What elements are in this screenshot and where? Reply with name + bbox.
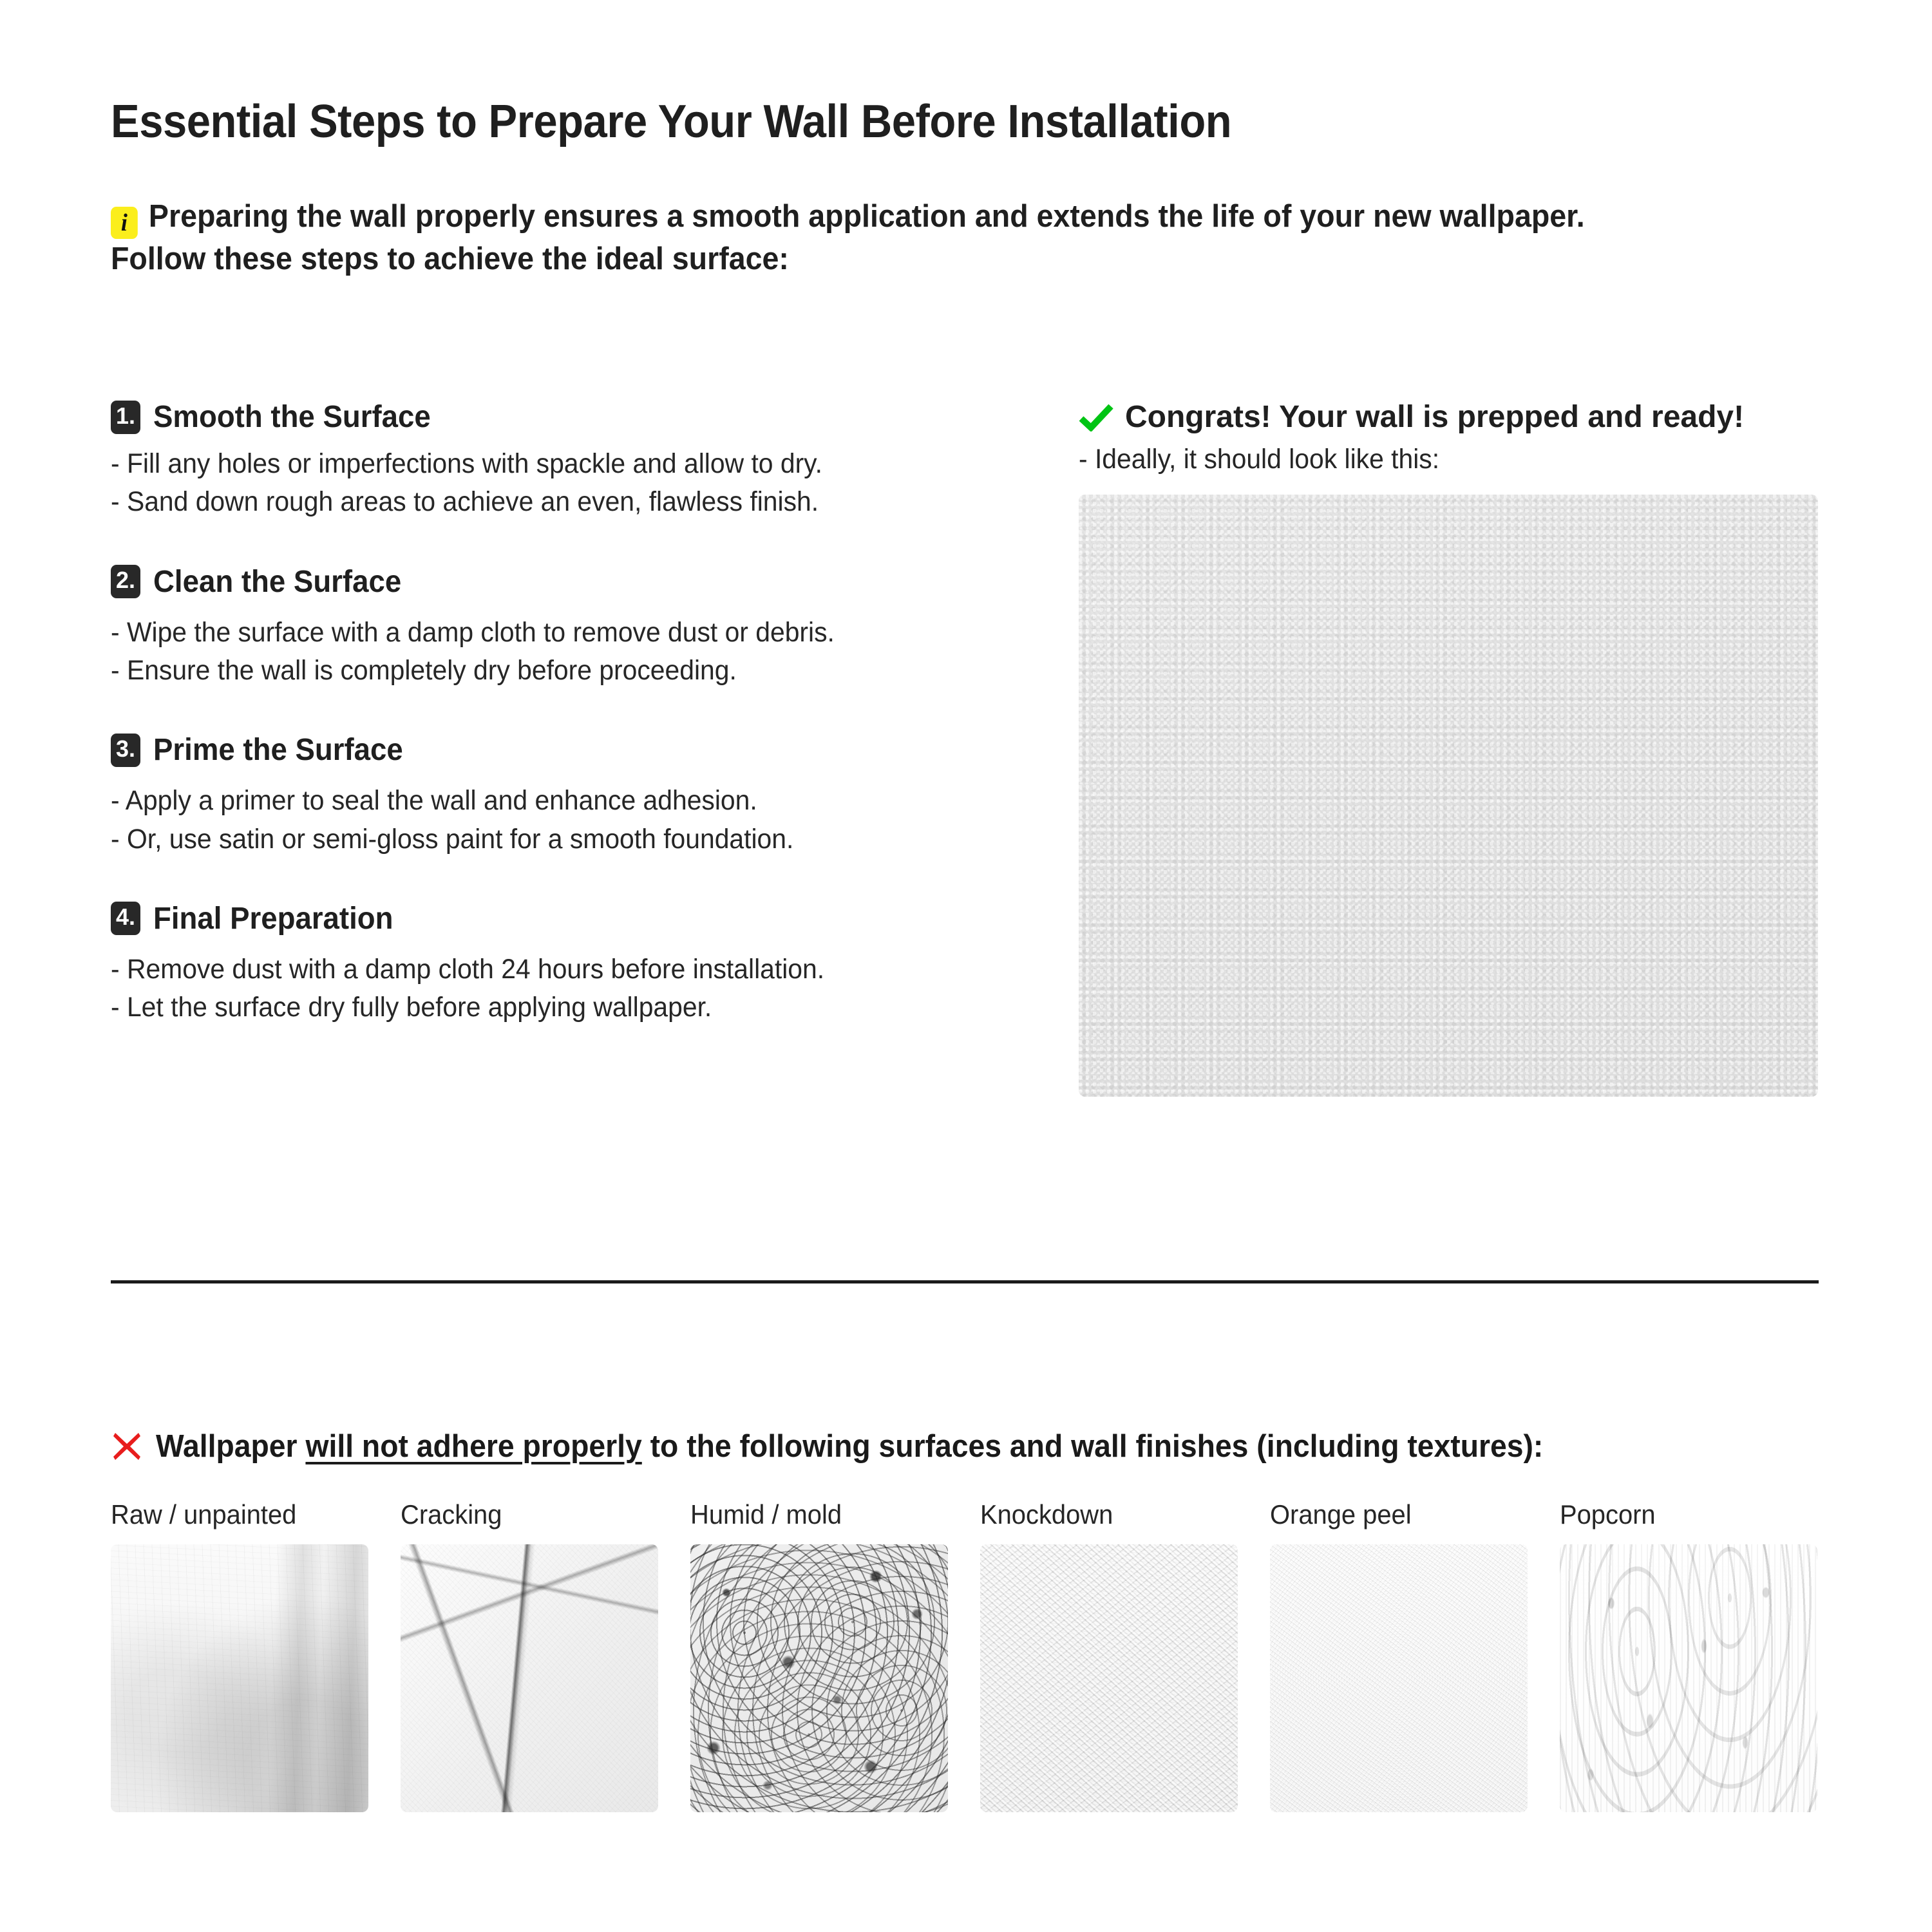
texture-swatch-cracking (401, 1544, 658, 1812)
step-header-2: 2. Clean the Surface (111, 564, 1025, 600)
texture-swatch-humid-mold (690, 1544, 948, 1812)
texture-label: Humid / mold (690, 1499, 935, 1530)
texture-label: Knockdown (980, 1499, 1225, 1530)
step-item-3: 3. Prime the Surface - Apply a primer to… (111, 732, 1025, 858)
warning-text-before: Wallpaper (156, 1429, 305, 1464)
texture-item-humid-mold: Humid / mold (690, 1499, 948, 1812)
steps-list: 1. Smooth the Surface - Fill any holes o… (111, 399, 1025, 1027)
texture-swatch-popcorn (1560, 1544, 1817, 1812)
texture-item-orange-peel: Orange peel (1270, 1499, 1528, 1812)
texture-item-knockdown: Knockdown (980, 1499, 1238, 1812)
step-bullets-2: - Wipe the surface with a damp cloth to … (111, 614, 980, 690)
step-bullets-3: - Apply a primer to seal the wall and en… (111, 782, 980, 858)
intro-paragraph: iPreparing the wall properly ensures a s… (111, 196, 1745, 279)
page-title: Essential Steps to Prepare Your Wall Bef… (111, 95, 1231, 148)
step-bullet: - Ensure the wall is completely dry befo… (111, 652, 980, 690)
warning-text: Wallpaper will not adhere properly to th… (156, 1428, 1543, 1464)
step-item-1: 1. Smooth the Surface - Fill any holes o… (111, 399, 1025, 522)
step-bullets-1: - Fill any holes or imperfections with s… (111, 445, 980, 522)
texture-label: Popcorn (1560, 1499, 1804, 1530)
texture-swatch-raw-unpainted (111, 1544, 368, 1812)
ideal-wall-preview-image (1079, 495, 1818, 1097)
texture-label: Orange peel (1270, 1499, 1515, 1530)
step-bullet: - Or, use satin or semi-gloss paint for … (111, 820, 980, 858)
wall-prep-document: Essential Steps to Prepare Your Wall Bef… (0, 0, 1932, 1932)
intro-line-1: Preparing the wall properly ensures a sm… (149, 199, 1585, 234)
ideal-heading-text: Congrats! Your wall is prepped and ready… (1125, 399, 1744, 435)
step-number-badge-2: 2. (111, 565, 140, 598)
x-icon (111, 1430, 143, 1463)
bad-surface-gallery: Raw / unpainted Cracking Humid / mold Kn… (111, 1499, 1824, 1812)
step-bullet: - Remove dust with a damp cloth 24 hours… (111, 951, 980, 989)
step-title-2: Clean the Surface (153, 564, 401, 600)
texture-item-cracking: Cracking (401, 1499, 658, 1812)
texture-label: Cracking (401, 1499, 645, 1530)
step-bullet: - Sand down rough areas to achieve an ev… (111, 483, 980, 521)
step-bullets-4: - Remove dust with a damp cloth 24 hours… (111, 951, 980, 1027)
step-bullet: - Fill any holes or imperfections with s… (111, 445, 980, 483)
step-bullet: - Apply a primer to seal the wall and en… (111, 782, 980, 820)
check-icon (1079, 403, 1113, 431)
step-item-2: 2. Clean the Surface - Wipe the surface … (111, 564, 1025, 690)
intro-line-2: Follow these steps to achieve the ideal … (111, 241, 789, 276)
step-header-3: 3. Prime the Surface (111, 732, 1025, 768)
texture-label: Raw / unpainted (111, 1499, 355, 1530)
warning-row: Wallpaper will not adhere properly to th… (111, 1428, 1624, 1464)
section-divider (111, 1280, 1819, 1283)
step-bullet: - Let the surface dry fully before apply… (111, 989, 980, 1027)
texture-swatch-orange-peel (1270, 1544, 1528, 1812)
texture-swatch-knockdown (980, 1544, 1238, 1812)
step-title-3: Prime the Surface (153, 732, 403, 768)
ideal-heading-row: Congrats! Your wall is prepped and ready… (1079, 399, 1819, 435)
step-number-badge-3: 3. (111, 734, 140, 767)
texture-item-popcorn: Popcorn (1560, 1499, 1817, 1812)
step-title-1: Smooth the Surface (153, 399, 431, 435)
step-item-4: 4. Final Preparation - Remove dust with … (111, 901, 1025, 1027)
step-title-4: Final Preparation (153, 901, 393, 936)
texture-item-raw: Raw / unpainted (111, 1499, 368, 1812)
step-number-badge-4: 4. (111, 902, 140, 935)
info-icon: i (111, 207, 138, 239)
warning-text-emphasis: will not adhere properly (305, 1429, 641, 1464)
ideal-result-section: Congrats! Your wall is prepped and ready… (1079, 399, 1819, 1097)
ideal-subtext: - Ideally, it should look like this: (1079, 444, 1783, 475)
step-bullet: - Wipe the surface with a damp cloth to … (111, 614, 980, 652)
warning-text-after: to the following surfaces and wall finis… (642, 1429, 1544, 1464)
step-header-4: 4. Final Preparation (111, 901, 1025, 936)
step-header-1: 1. Smooth the Surface (111, 399, 1025, 435)
step-number-badge-1: 1. (111, 401, 140, 434)
